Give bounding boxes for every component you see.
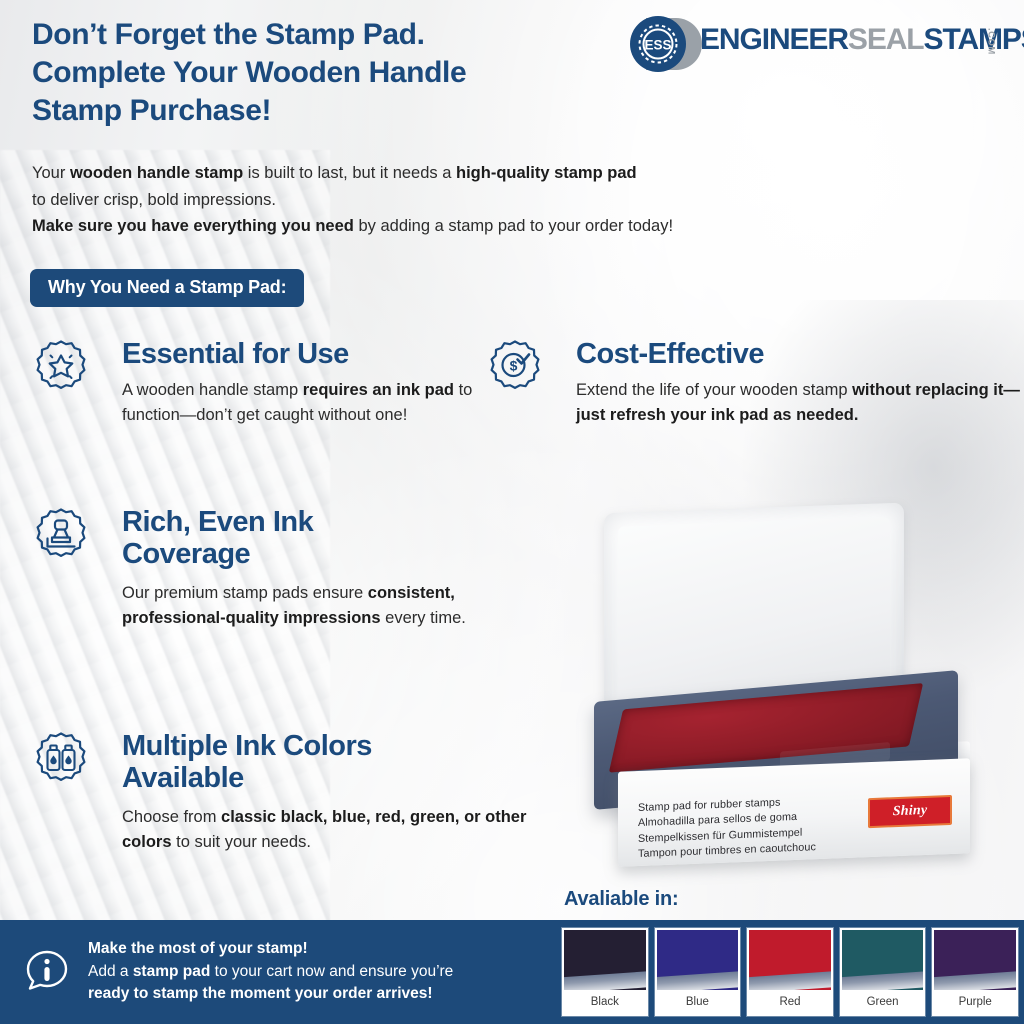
footer-text: Make the most of your stamp! Add a stamp… [88,938,453,1006]
badge-ink-bottles-icon [30,730,92,792]
page-title: Don’t Forget the Stamp Pad. Complete You… [32,16,652,129]
swatch-red[interactable]: Red [747,928,833,1016]
swatch-purple[interactable]: Purple [932,928,1018,1016]
swatch-label: Blue [657,990,739,1014]
badge-dollar-check-icon: $ [484,338,546,400]
feature-body: Extend the life of your wooden stamp wit… [576,378,1021,428]
footer-strong-stamp-pad: stamp pad [133,963,211,980]
swatch-color-purple [934,930,1016,990]
shiny-logo-text: Shiny [893,803,927,820]
intro-text: by adding a stamp pad to your order toda… [354,217,673,235]
swatch-color-black [564,930,646,990]
headline-line-1: Don’t Forget the Stamp Pad. [32,16,652,54]
logo-word-stamps: STAMPS [924,23,1024,56]
swatch-label: Red [749,990,831,1014]
feature-body: A wooden handle stamp requires an ink pa… [122,378,502,428]
intro-paragraph: Your wooden handle stamp is built to las… [32,160,912,240]
section-heading-badge: Why You Need a Stamp Pad: [30,269,304,307]
ess-gear-badge-icon: ESS [630,16,686,72]
feature-body: Choose from classic black, blue, red, gr… [122,805,542,855]
intro-text: is built to last, but it needs a [243,164,456,182]
footer-callout: Make the most of your stamp! Add a stamp… [0,920,556,1024]
svg-text:ESS: ESS [644,38,671,53]
badge-stamp-icon [30,506,92,568]
product-photo-stamp-pad: Stamp pad for rubber stamps Almohadilla … [566,490,1022,890]
available-in-title: Avaliable in: [564,888,678,911]
retail-box-multilingual-text: Stamp pad for rubber stamps Almohadilla … [638,794,816,862]
swatch-color-blue [657,930,739,990]
headline-line-2: Complete Your Wooden Handle [32,54,652,92]
swatch-color-red [749,930,831,990]
intro-strong-high-quality-stamp-pad: high-quality stamp pad [456,164,637,182]
logo-wordmark: ENGINEERSEALSTAMPS [700,25,1024,55]
intro-strong-wooden-handle-stamp: wooden handle stamp [70,164,243,182]
swatch-black[interactable]: Black [562,928,648,1016]
swatch-green[interactable]: Green [840,928,926,1016]
feature-body: Our premium stamp pads ensure consistent… [122,581,482,631]
swatch-label: Green [842,990,924,1014]
info-bubble-icon [22,947,72,997]
intro-line-1: Your wooden handle stamp is built to las… [32,160,912,187]
promo-page: Don’t Forget the Stamp Pad. Complete You… [0,0,1024,1024]
footer-line-2: Add a stamp pad to your cart now and ens… [88,961,453,984]
swatch-label: Purple [934,990,1016,1014]
badge-star-icon [30,338,92,400]
feature-title: Rich, Even InkCoverage [122,506,472,571]
feature-body-text: Choose from [122,808,221,826]
feature-body-text: A wooden handle stamp [122,381,303,399]
footer-line-1: Make the most of your stamp! [88,938,453,961]
feature-title: Cost-Effective [576,338,1024,370]
intro-text: Your [32,164,70,182]
feature-multiple-ink-colors: Multiple Ink ColorsAvailable Choose from… [30,730,550,854]
swatch-label: Black [564,990,646,1014]
feature-body-strong: requires an ink pad [303,381,454,399]
headline-line-3: Stamp Purchase! [32,92,652,130]
feature-essential-for-use: Essential for Use A wooden handle stamp … [30,338,500,428]
shiny-brand-logo: Shiny [868,795,952,828]
feature-body-text: every time. [381,609,466,627]
footer-text-plain: to your cart now and ensure you’re [210,963,453,980]
logo-word-seal: SEAL [848,23,924,56]
swatch-blue[interactable]: Blue [655,928,741,1016]
feature-cost-effective: $ Cost-Effective Extend the life of your… [484,338,1024,428]
swatch-color-green [842,930,924,990]
intro-strong-make-sure: Make sure you have everything you need [32,217,354,235]
color-swatch-panel: Black Blue Red Green Purple [556,920,1024,1024]
footer-text-plain: Add a [88,963,133,980]
feature-title-line-1: Rich, Even Ink [122,506,472,538]
feature-title-line-2: Available [122,762,522,794]
logo-word-engineer: ENGINEER [700,23,848,56]
footer-line-3: ready to stamp the moment your order arr… [88,983,453,1006]
intro-line-2: to deliver crisp, bold impressions. [32,187,912,214]
feature-title-line-2: Coverage [122,538,472,570]
intro-line-3: Make sure you have everything you need b… [32,213,912,240]
feature-title: Essential for Use [122,338,500,370]
feature-rich-even-ink-coverage: Rich, Even InkCoverage Our premium stamp… [30,506,500,630]
retail-box: Stamp pad for rubber stamps Almohadilla … [618,758,970,867]
feature-body-text: Our premium stamp pads ensure [122,584,368,602]
brand-logo[interactable]: ESS ENGINEERSEALSTAMPS .COM [628,16,1016,72]
logo-dotcom: .COM [986,28,996,55]
feature-body-text: to suit your needs. [172,833,311,851]
feature-title-line-1: Multiple Ink Colors [122,730,522,762]
feature-title: Multiple Ink ColorsAvailable [122,730,522,795]
feature-body-text: Extend the life of your wooden stamp [576,381,852,399]
